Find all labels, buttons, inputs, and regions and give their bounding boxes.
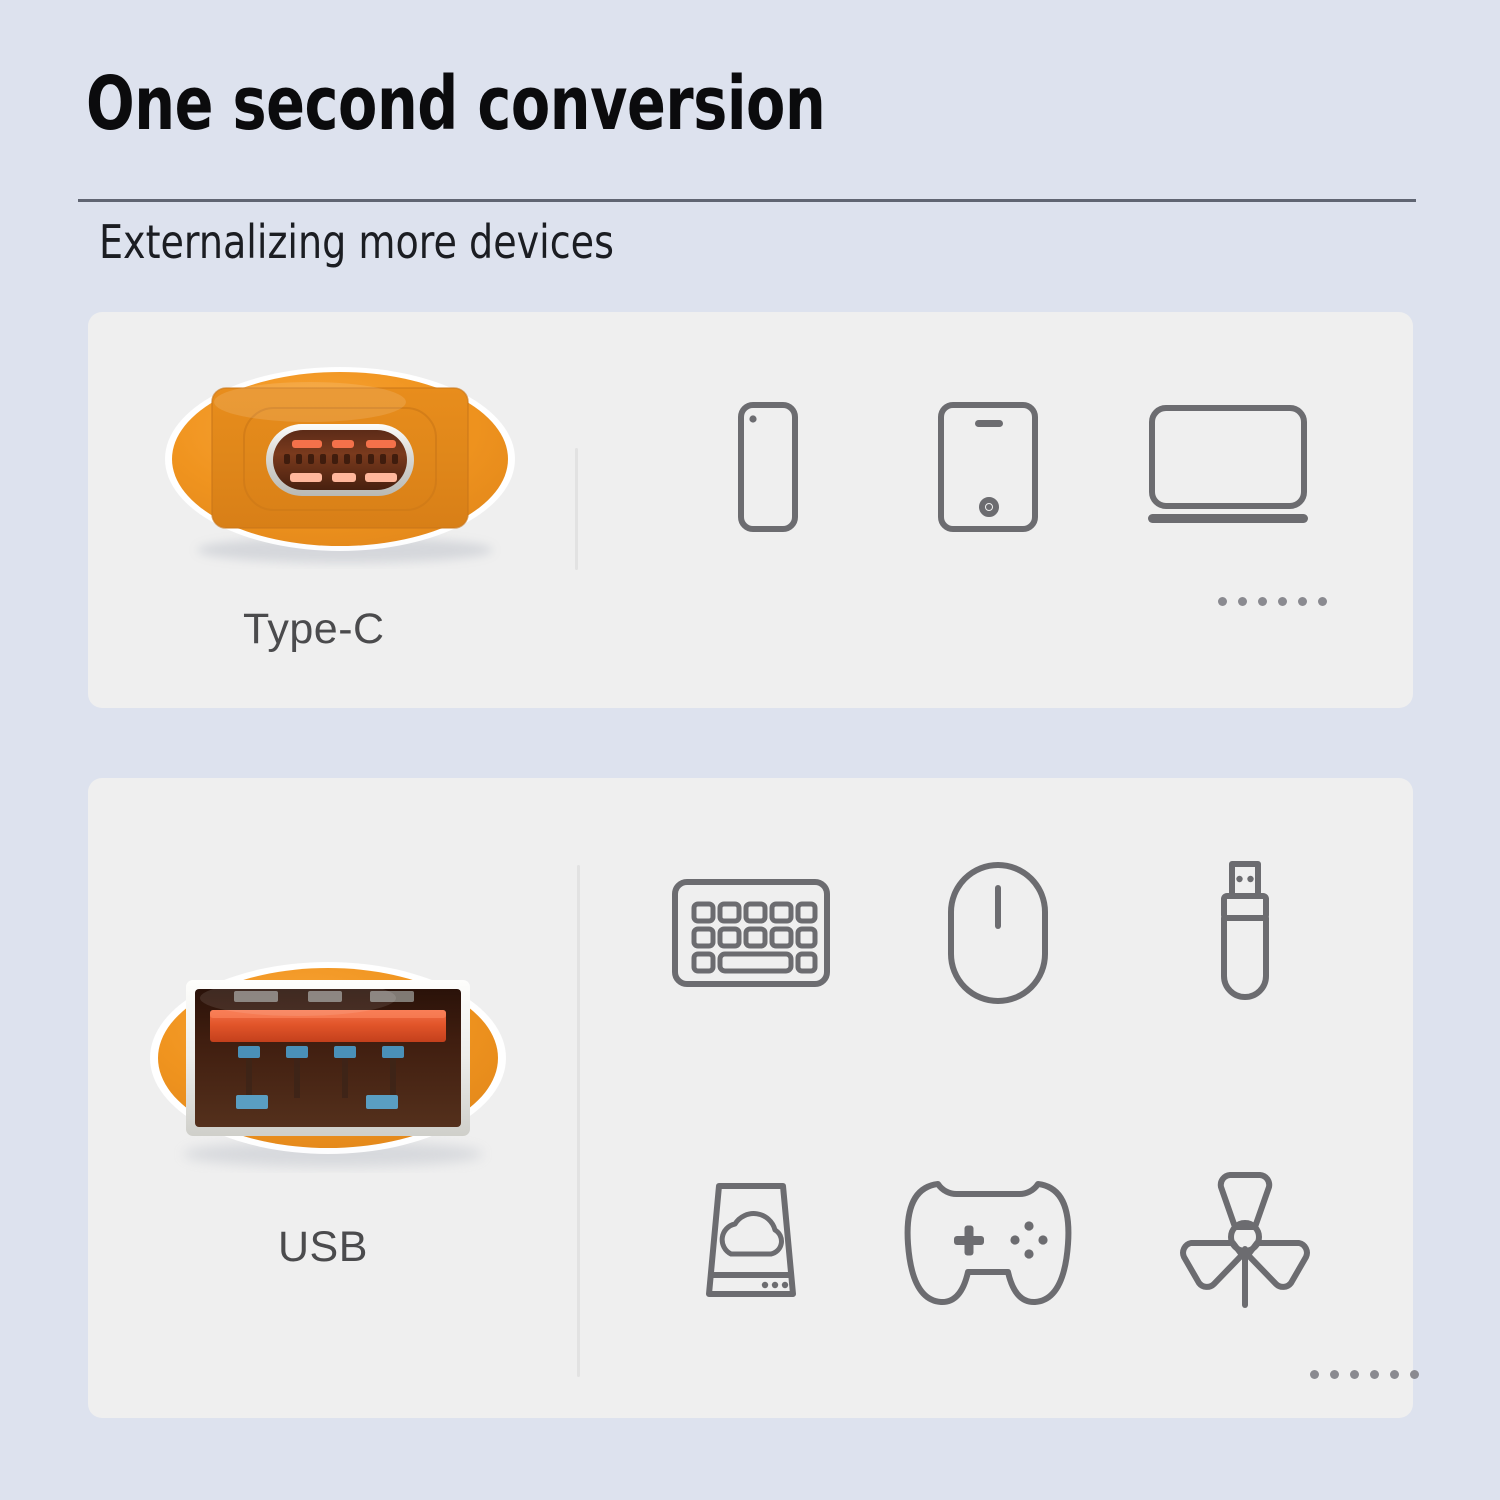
tablet-icon (933, 401, 1043, 533)
device-icon-row-type-c (658, 392, 1358, 542)
more-dot (1330, 1370, 1339, 1379)
device-icon-laptop[interactable] (1133, 392, 1323, 542)
mouse-icon (943, 860, 1053, 1006)
more-dot (1258, 597, 1267, 606)
usb-type-c-port-icon (160, 364, 520, 569)
more-dot (1238, 597, 1247, 606)
more-dot (1218, 597, 1227, 606)
more-dot (1278, 597, 1287, 606)
more-dot (1410, 1370, 1419, 1379)
cloud-hard-drive-icon (691, 1180, 811, 1306)
gamepad-icon (923, 1178, 1073, 1308)
more-dot (1390, 1370, 1399, 1379)
keyboard-icon (670, 874, 832, 992)
more-dot (1350, 1370, 1359, 1379)
device-icon-keyboard[interactable] (651, 848, 851, 1018)
device-icon-row-usb-2 (628, 1158, 1368, 1328)
card-type-c: Type-C (88, 312, 1413, 708)
device-icon-row-usb-1 (628, 848, 1368, 1018)
more-dot (1310, 1370, 1319, 1379)
card-divider (577, 865, 580, 1377)
connector-label-usb: USB (278, 1223, 368, 1272)
more-dot (1318, 597, 1327, 606)
card-divider (575, 448, 578, 570)
connector-label-type-c: Type-C (243, 605, 385, 654)
header-divider (78, 199, 1416, 202)
more-dot (1298, 597, 1307, 606)
device-icon-smartphone[interactable] (693, 392, 843, 542)
laptop-icon (1142, 402, 1314, 532)
usb-type-a-port-icon (138, 958, 528, 1173)
more-devices-indicator-type-c (1218, 597, 1327, 606)
card-usb: USB (88, 778, 1413, 1418)
device-icon-gamepad[interactable] (898, 1158, 1098, 1328)
page-title: One second conversion (86, 66, 825, 144)
usb-flash-drive-icon (1206, 858, 1284, 1008)
device-icon-mouse[interactable] (898, 848, 1098, 1018)
header-subtitle: Externalizing more devices (99, 215, 614, 269)
device-icon-usb-flash-drive[interactable] (1145, 848, 1345, 1018)
device-icon-fan[interactable] (1145, 1158, 1345, 1328)
smartphone-icon (729, 401, 807, 533)
device-icon-tablet[interactable] (913, 392, 1063, 542)
more-devices-indicator-usb (1310, 1370, 1419, 1379)
more-dot (1370, 1370, 1379, 1379)
fan-icon (1177, 1173, 1313, 1313)
device-icon-cloud-storage[interactable] (651, 1158, 851, 1328)
